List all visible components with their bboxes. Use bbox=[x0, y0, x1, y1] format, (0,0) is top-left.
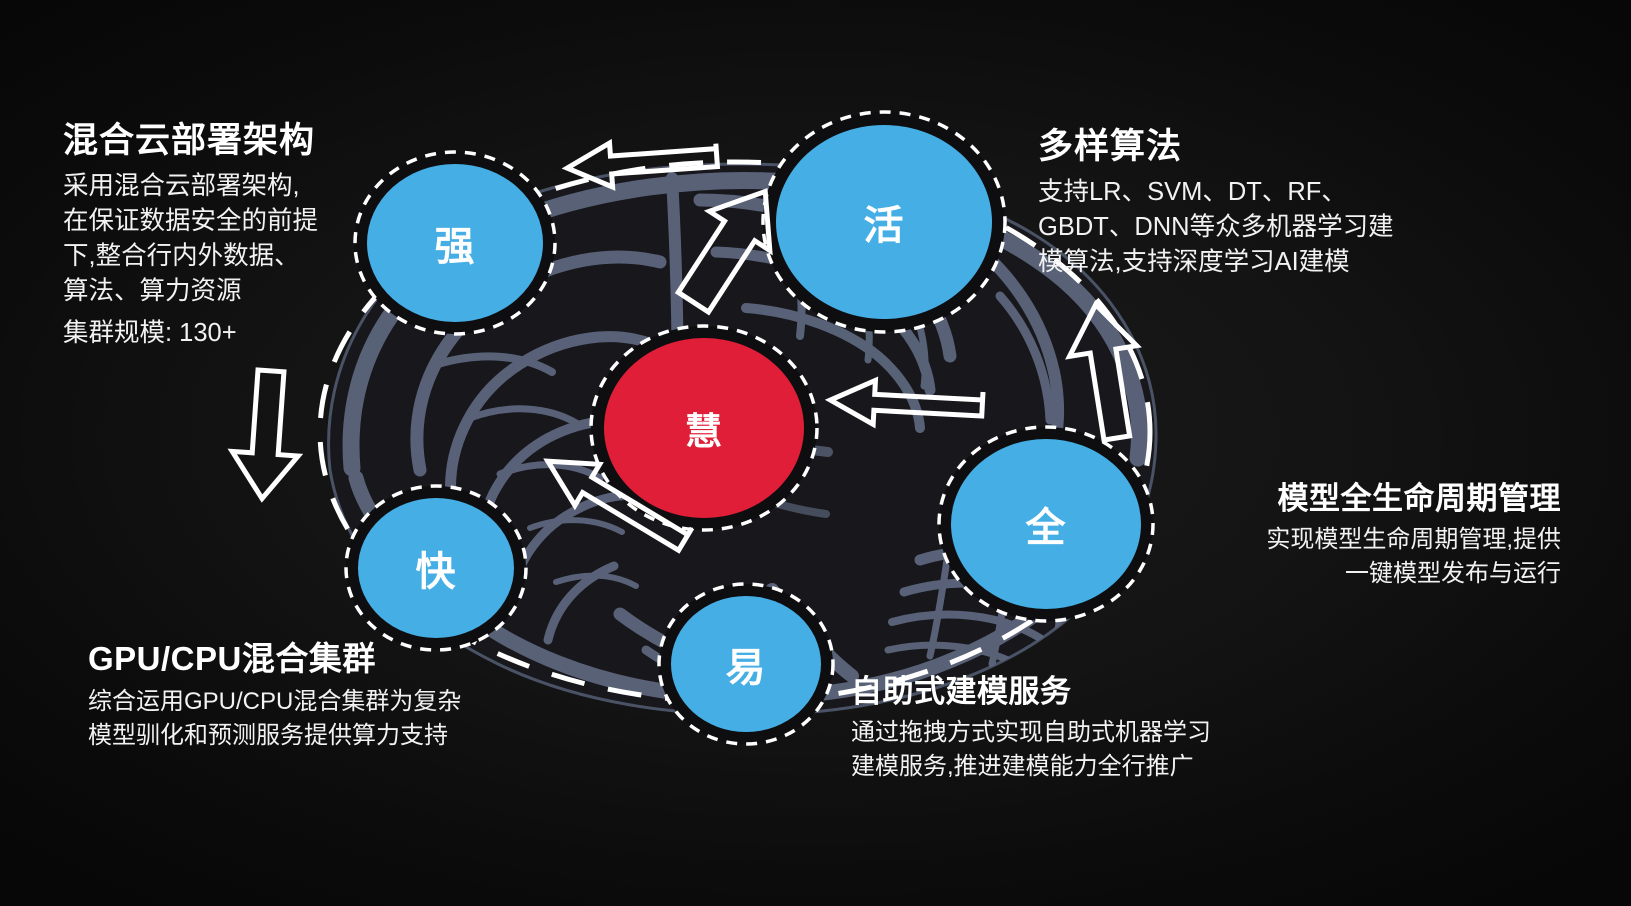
body-line: 模型驯化和预测服务提供算力支持 bbox=[88, 719, 558, 753]
body-line: 通过拖拽方式实现自助式机器学习 bbox=[851, 716, 1311, 750]
block-gpu-cpu-body: 综合运用GPU/CPU混合集群为复杂 模型驯化和预测服务提供算力支持 bbox=[88, 685, 558, 753]
block-self-service-body: 通过拖拽方式实现自助式机器学习 建模服务,推进建模能力全行推广 bbox=[851, 716, 1311, 784]
node-quan[interactable] bbox=[939, 427, 1153, 621]
node-huo-circle[interactable] bbox=[776, 125, 992, 319]
body-line: 采用混合云部署架构, bbox=[63, 169, 403, 204]
body-line: 一键模型发布与运行 bbox=[1141, 557, 1561, 591]
body-line: 建模服务,推进建模能力全行推广 bbox=[851, 750, 1311, 784]
block-lifecycle-body: 实现模型生命周期管理,提供 一键模型发布与运行 bbox=[1141, 523, 1561, 591]
body-line: 下,整合行内外数据、 bbox=[63, 239, 403, 274]
node-huo[interactable] bbox=[763, 112, 1005, 332]
body-line-cluster-scale: 集群规模: 130+ bbox=[63, 316, 403, 351]
arrow-into-center-icon bbox=[829, 378, 983, 430]
node-yi[interactable] bbox=[659, 584, 833, 744]
body-line: 综合运用GPU/CPU混合集群为复杂 bbox=[88, 685, 558, 719]
block-hybrid-cloud-body: 采用混合云部署架构, 在保证数据安全的前提 下,整合行内外数据、 算法、算力资源… bbox=[63, 169, 403, 351]
node-quan-circle[interactable] bbox=[951, 439, 1141, 609]
node-yi-circle[interactable] bbox=[671, 596, 821, 732]
node-hui-circle[interactable] bbox=[604, 338, 804, 518]
infographic-canvas: 强 活 慧 全 快 易 混合云部署架构 采用混合云部署架构, 在保证数据安全的前… bbox=[0, 0, 1631, 906]
block-lifecycle-title: 模型全生命周期管理 bbox=[1141, 473, 1561, 518]
block-self-service: 自助式建模服务 通过拖拽方式实现自助式机器学习 建模服务,推进建模能力全行推广 bbox=[851, 666, 1311, 784]
block-gpu-cpu: GPU/CPU混合集群 综合运用GPU/CPU混合集群为复杂 模型驯化和预测服务… bbox=[88, 632, 558, 753]
block-algorithms-title: 多样算法 bbox=[1038, 118, 1458, 169]
block-algorithms-body: 支持LR、SVM、DT、RF、 GBDT、DNN等众多机器学习建 模算法,支持深… bbox=[1038, 175, 1458, 280]
block-gpu-cpu-title: GPU/CPU混合集群 bbox=[88, 632, 558, 680]
block-hybrid-cloud-title: 混合云部署架构 bbox=[63, 112, 403, 163]
block-algorithms: 多样算法 支持LR、SVM、DT、RF、 GBDT、DNN等众多机器学习建 模算… bbox=[1038, 118, 1458, 280]
body-line: 支持LR、SVM、DT、RF、 bbox=[1038, 175, 1458, 210]
body-line: 模算法,支持深度学习AI建模 bbox=[1038, 245, 1458, 280]
block-lifecycle: 模型全生命周期管理 实现模型生命周期管理,提供 一键模型发布与运行 bbox=[1141, 473, 1561, 591]
arrow-left-down-icon bbox=[229, 369, 304, 501]
body-line: 实现模型生命周期管理,提供 bbox=[1141, 523, 1561, 557]
body-line: 算法、算力资源 bbox=[63, 274, 403, 309]
node-kuai-circle[interactable] bbox=[358, 498, 514, 638]
node-kuai[interactable] bbox=[346, 486, 526, 650]
body-line: 在保证数据安全的前提 bbox=[63, 204, 403, 239]
block-hybrid-cloud: 混合云部署架构 采用混合云部署架构, 在保证数据安全的前提 下,整合行内外数据、… bbox=[63, 112, 403, 351]
body-line: GBDT、DNN等众多机器学习建 bbox=[1038, 210, 1458, 245]
block-self-service-title: 自助式建模服务 bbox=[851, 666, 1311, 711]
